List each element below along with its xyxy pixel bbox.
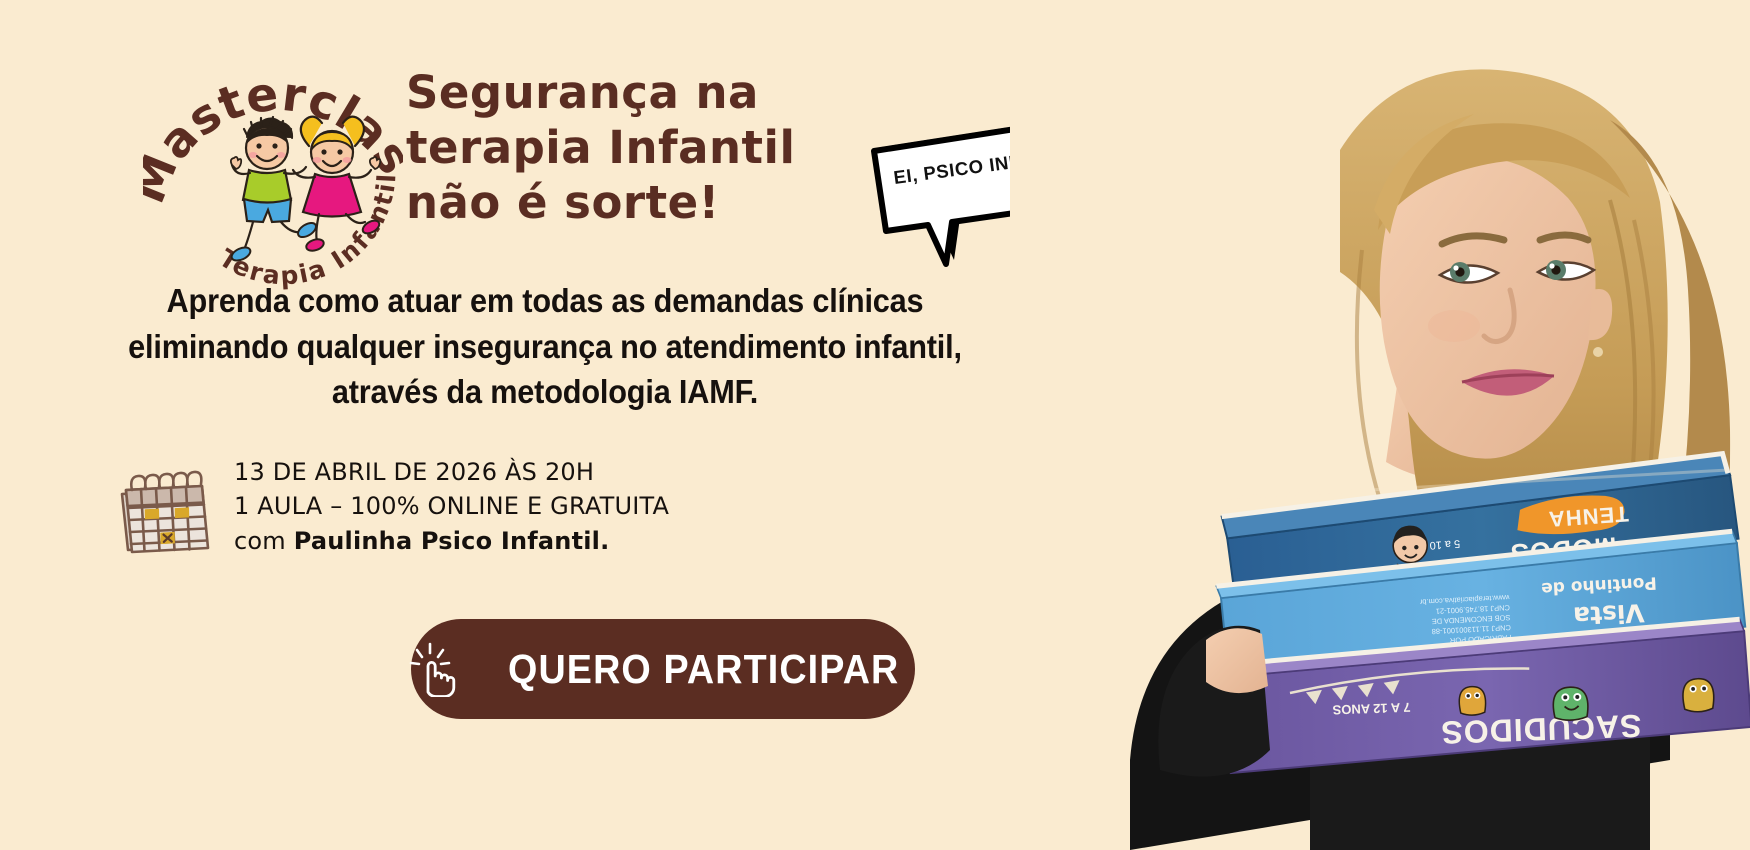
svg-text:5 a 10 anos: 5 a 10 anos <box>1402 537 1461 553</box>
svg-text:CNPJ 11.113001001-88: CNPJ 11.113001001-88 <box>1431 623 1511 636</box>
click-hand-icon <box>409 641 461 697</box>
detail-presenter: com Paulinha Psico Infantil. <box>234 524 669 558</box>
svg-text:TENHA: TENHA <box>1547 501 1629 532</box>
speech-bubble: EI, PSICO INFANTIL <box>862 105 1112 270</box>
quero-participar-button[interactable]: QUERO PARTICIPAR <box>411 619 915 719</box>
woman-holding-game-boxes-photo: MODOS TENHA 5 a 10 anos <box>1010 0 1750 850</box>
subhead-paragraph: Aprenda como atuar em todas as demandas … <box>38 278 1052 415</box>
svg-text:Vista: Vista <box>1572 598 1645 631</box>
subhead-line-1: Aprenda como atuar em todas as demandas … <box>38 278 1052 324</box>
detail-presenter-prefix: com <box>234 527 294 555</box>
headline-line-2: terapia Infantil <box>406 121 876 176</box>
detail-date: 13 DE ABRIL DE 2026 ÀS 20H <box>234 455 669 489</box>
subhead-line-3: através da metodologia IAMF. <box>38 369 1052 415</box>
subhead-line-2: eliminando qualquer insegurança no atend… <box>38 324 1052 370</box>
calendar-icon <box>108 468 216 560</box>
svg-text:www.terapiacriativa.com.br: www.terapiacriativa.com.br <box>1419 593 1510 607</box>
svg-text:MODOS: MODOS <box>1509 531 1618 568</box>
detail-format: 1 AULA – 100% ONLINE E GRATUITA <box>234 489 669 523</box>
headline: Segurança na terapia Infantil não é sort… <box>406 66 876 231</box>
svg-text:CNPJ 18.745.9001-21: CNPJ 18.745.9001-21 <box>1436 603 1511 616</box>
cta-label: QUERO PARTICIPAR <box>508 646 899 693</box>
detail-presenter-name: Paulinha Psico Infantil. <box>294 527 610 555</box>
event-detail-lines: 13 DE ABRIL DE 2026 ÀS 20H 1 AULA – 100%… <box>234 455 669 560</box>
masterclass-terapia-infantil-logo: Masterclass Terapia Infantil <box>143 42 403 292</box>
headline-line-1: Segurança na <box>406 66 876 121</box>
promo-banner: Masterclass Terapia Infantil <box>0 0 1750 850</box>
svg-text:Pontinho de: Pontinho de <box>1541 572 1658 598</box>
event-details: 13 DE ABRIL DE 2026 ÀS 20H 1 AULA – 100%… <box>108 455 668 560</box>
svg-text:SOB ENCOMENDA DE: SOB ENCOMENDA DE <box>1432 613 1511 626</box>
headline-line-3: não é sorte! <box>406 176 876 231</box>
svg-text:7 A 12 ANOS: 7 A 12 ANOS <box>1332 700 1411 718</box>
svg-text:SACUDIDOS: SACUDIDOS <box>1440 708 1642 751</box>
svg-text:FABRICADO POR: FABRICADO POR <box>1449 633 1512 645</box>
